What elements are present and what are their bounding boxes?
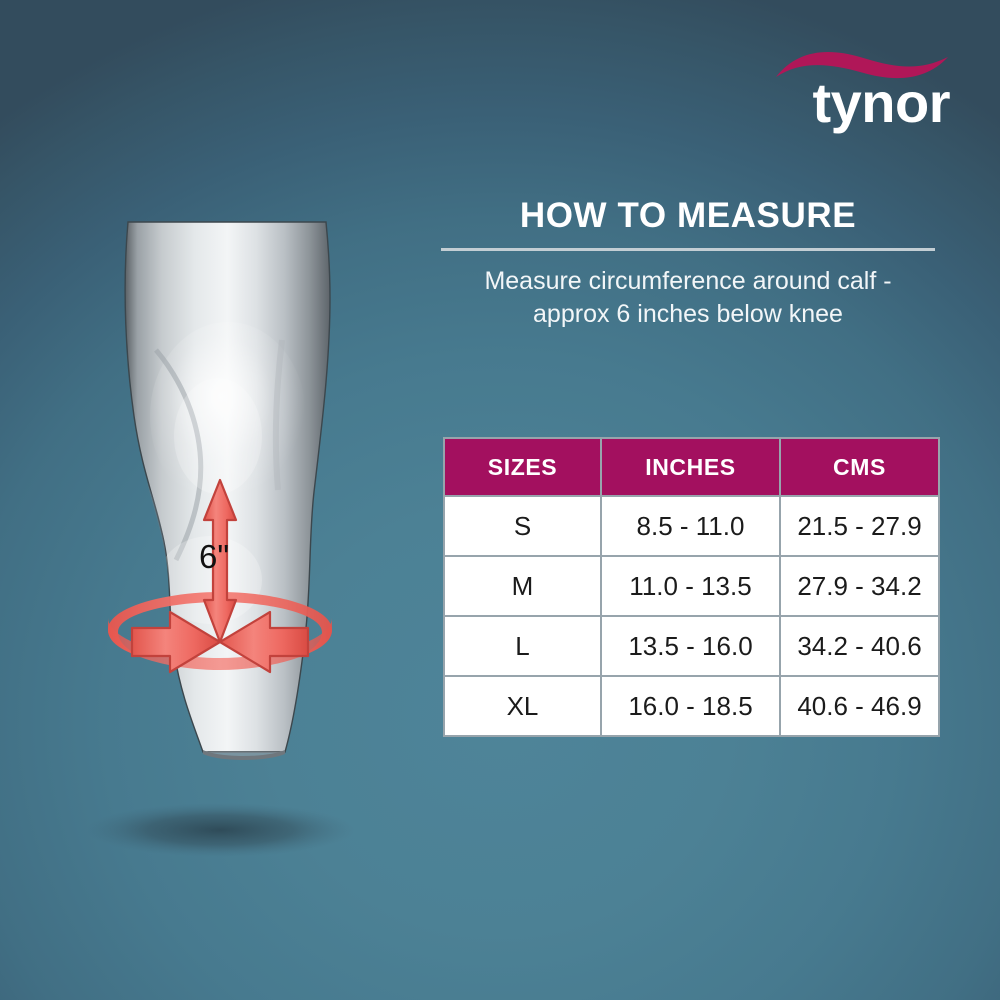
cell-size: L: [444, 616, 601, 676]
cell-cms: 21.5 - 27.9: [780, 496, 939, 556]
cell-size: XL: [444, 676, 601, 736]
table-body: S 8.5 - 11.0 21.5 - 27.9 M 11.0 - 13.5 2…: [444, 496, 939, 736]
cell-cms: 40.6 - 46.9: [780, 676, 939, 736]
cell-size: M: [444, 556, 601, 616]
cell-inches: 11.0 - 13.5: [601, 556, 780, 616]
panel-subtitle-line-2: approx 6 inches below knee: [440, 298, 936, 331]
table-row: S 8.5 - 11.0 21.5 - 27.9: [444, 496, 939, 556]
table-row: XL 16.0 - 18.5 40.6 - 46.9: [444, 676, 939, 736]
cell-inches: 8.5 - 11.0: [601, 496, 780, 556]
panel-subtitle-line-1: Measure circumference around calf -: [440, 265, 936, 298]
title-divider: [441, 248, 935, 251]
measurement-distance-label: 6": [199, 538, 229, 576]
cell-inches: 13.5 - 16.0: [601, 616, 780, 676]
column-header-sizes: SIZES: [444, 438, 601, 496]
leg-ground-shadow: [86, 803, 354, 857]
leg-diagram-svg: [60, 180, 420, 880]
cell-inches: 16.0 - 18.5: [601, 676, 780, 736]
table-row: L 13.5 - 16.0 34.2 - 40.6: [444, 616, 939, 676]
table-row: M 11.0 - 13.5 27.9 - 34.2: [444, 556, 939, 616]
size-chart-table: SIZES INCHES CMS S 8.5 - 11.0 21.5 - 27.…: [443, 437, 940, 737]
cell-cms: 34.2 - 40.6: [780, 616, 939, 676]
tynor-logo[interactable]: tynor: [760, 35, 950, 145]
cell-cms: 27.9 - 34.2: [780, 556, 939, 616]
column-header-cms: CMS: [780, 438, 939, 496]
column-header-inches: INCHES: [601, 438, 780, 496]
cell-size: S: [444, 496, 601, 556]
brand-wordmark: tynor: [760, 75, 950, 131]
how-to-measure-panel: HOW TO MEASURE Measure circumference aro…: [440, 196, 936, 330]
table-head: SIZES INCHES CMS: [444, 438, 939, 496]
calf-measurement-illustration: [60, 180, 420, 880]
size-chart-canvas: 6" tynor HOW TO MEASURE Measure circumfe…: [0, 0, 1000, 1000]
table-header-row: SIZES INCHES CMS: [444, 438, 939, 496]
panel-title: HOW TO MEASURE: [440, 196, 936, 248]
